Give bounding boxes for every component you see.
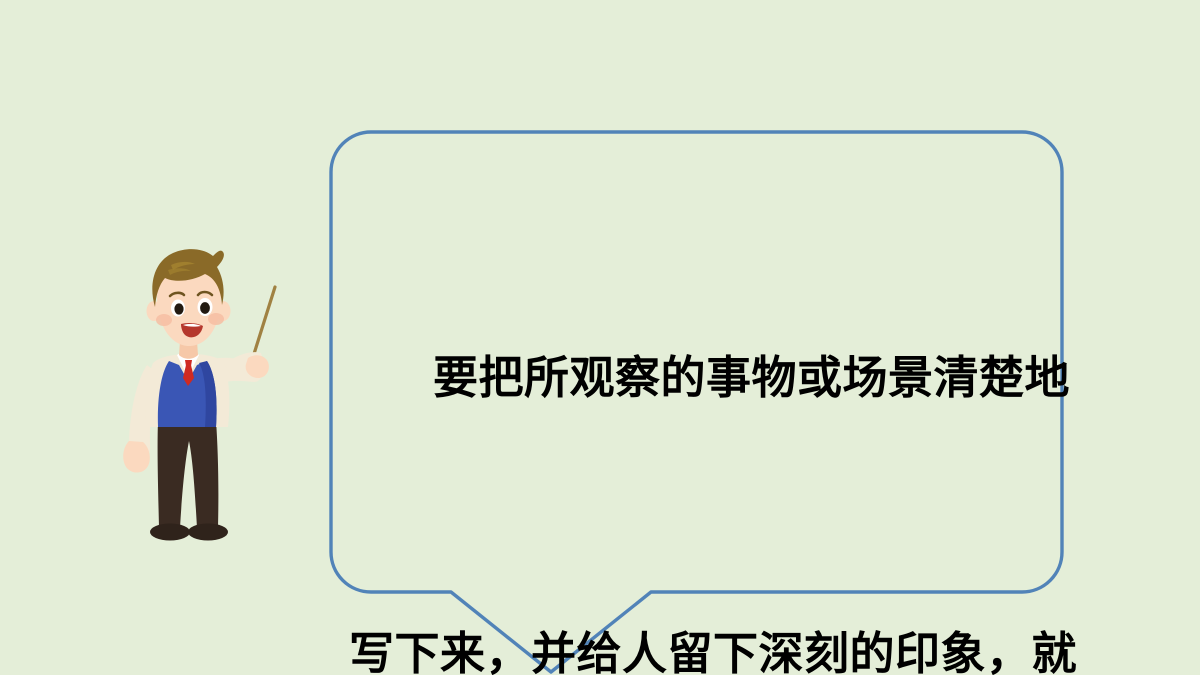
bubble-line-2: 写下来，并给人留下深刻的印象，就 — [349, 608, 1049, 675]
speech-bubble-text: 要把所观察的事物或场景清楚地 写下来，并给人留下深刻的印象，就 要观察得更细致，… — [349, 148, 1049, 675]
eye-left — [174, 303, 183, 314]
bubble-line-1: 要把所观察的事物或场景清楚地 — [349, 332, 1049, 424]
shoe-left — [150, 524, 190, 541]
trousers — [158, 420, 219, 528]
eye-right — [200, 302, 210, 314]
shoe-right — [188, 524, 228, 541]
slide-canvas: 要把所观察的事物或场景清楚地 写下来，并给人留下深刻的印象，就 要观察得更细致，… — [0, 0, 1200, 675]
speech-bubble: 要把所观察的事物或场景清楚地 写下来，并给人留下深刻的印象，就 要观察得更细致，… — [329, 130, 1064, 675]
teacher-character-illustration — [85, 245, 295, 545]
